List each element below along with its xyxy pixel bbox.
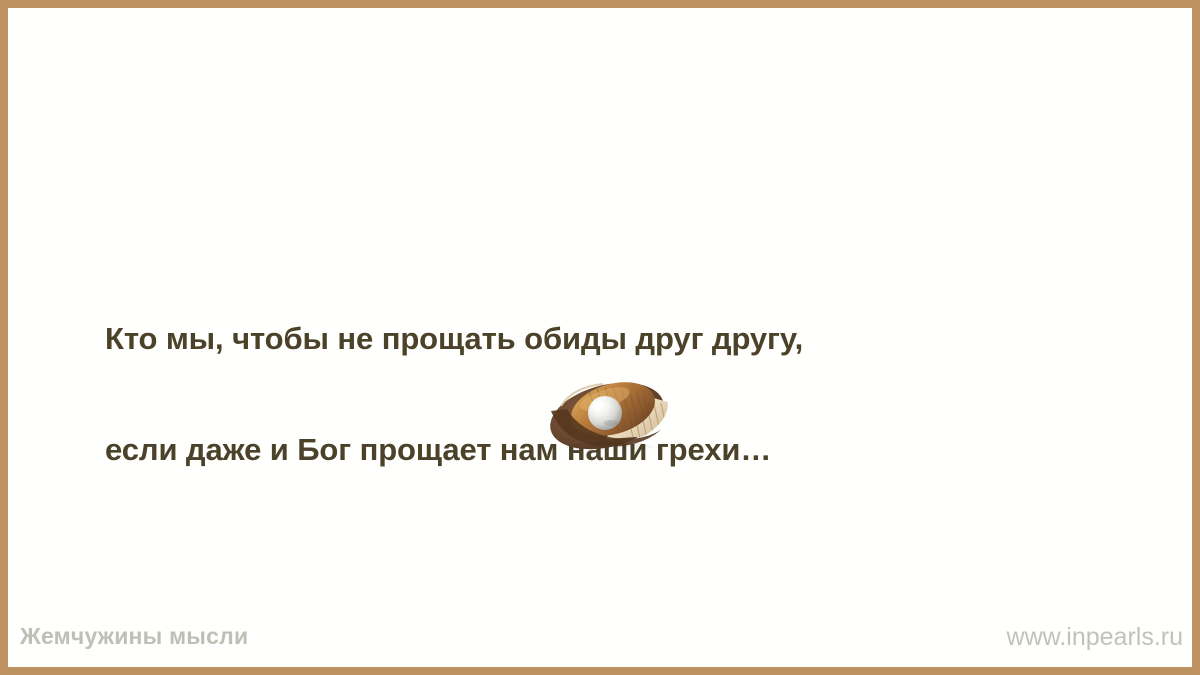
shell-ground-shadow (565, 442, 653, 452)
image-canvas: Кто мы, чтобы не прощать обиды друг друг… (8, 8, 1192, 667)
site-tagline: Жемчужины мысли (20, 623, 248, 649)
image-frame: Кто мы, чтобы не прощать обиды друг друг… (0, 0, 1200, 675)
pearl-shadow (604, 420, 618, 426)
pearl (588, 396, 622, 430)
oyster-shell-with-pearl-icon (537, 373, 687, 455)
site-url[interactable]: www.inpearls.ru (1007, 623, 1183, 651)
quote-line-1: Кто мы, чтобы не прощать обиды друг друг… (105, 320, 1115, 357)
